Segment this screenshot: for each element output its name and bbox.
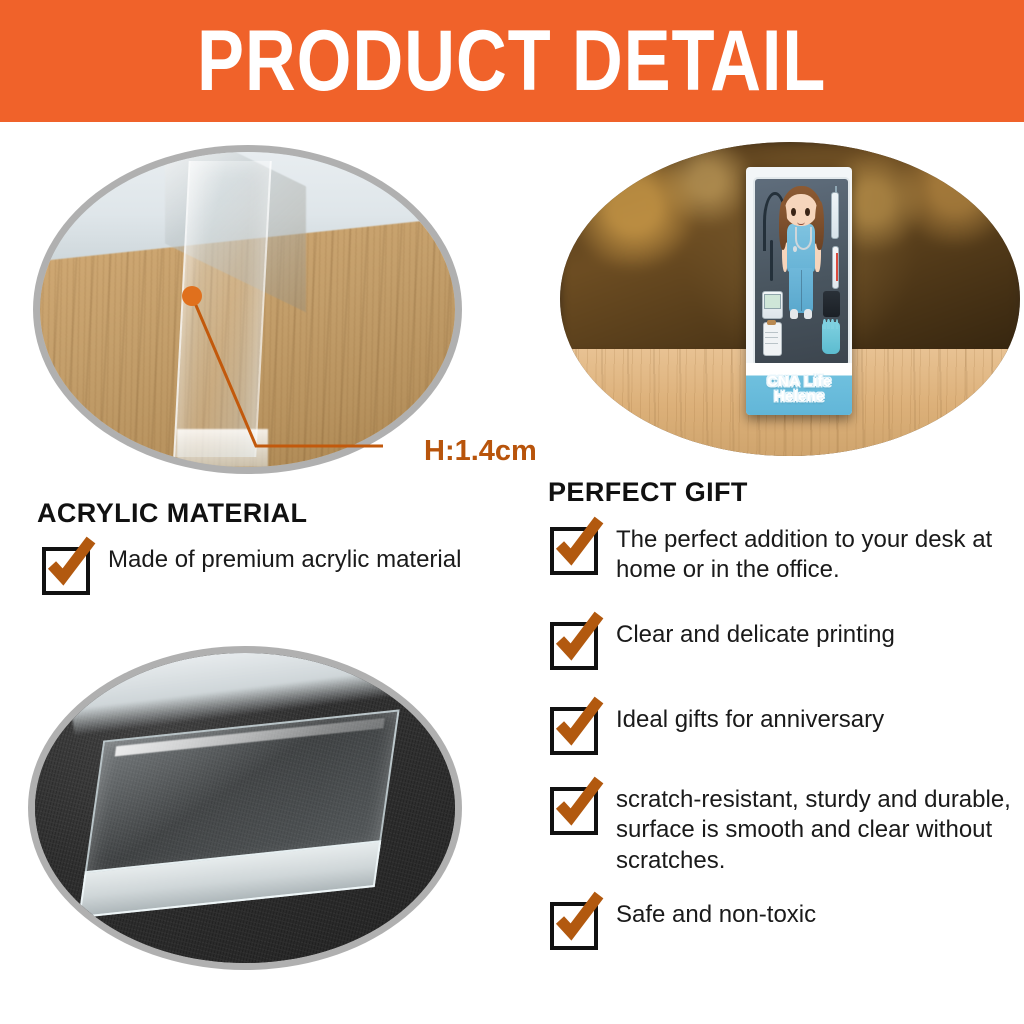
doll-leg-divider (801, 270, 802, 311)
checkbox-checked-icon[interactable] (550, 527, 598, 575)
feature-text: Clear and delicate printing (616, 620, 895, 650)
doll-shoe (804, 309, 812, 318)
glove-finger-icon (831, 319, 834, 328)
doll-hair-strand (779, 201, 787, 249)
doll-hair-strand (815, 201, 823, 249)
checkbox-checked-icon[interactable] (550, 622, 598, 670)
feature-text: Ideal gifts for anniversary (616, 705, 884, 735)
package-window (753, 177, 850, 367)
acrylic-base-highlight (177, 429, 268, 467)
thermometer-mercury-icon (836, 253, 837, 281)
glove-finger-icon (823, 319, 826, 328)
toy-package: CNA Life Helene (746, 167, 852, 415)
section-heading-acrylic-material: ACRYLIC MATERIAL (37, 498, 307, 529)
feature-item: Ideal gifts for anniversary (550, 705, 884, 755)
feature-text: The perfect addition to your desk at hom… (616, 525, 1020, 586)
doll-worn-stethoscope-icon (795, 227, 812, 249)
page-title: PRODUCT DETAIL (197, 18, 826, 104)
clipboard-clip-icon (767, 320, 776, 325)
acrylic-slab (78, 710, 395, 918)
check-mark-icon (551, 515, 607, 571)
section-heading-perfect-gift: PERFECT GIFT (548, 477, 748, 508)
checkbox-checked-icon[interactable] (550, 707, 598, 755)
height-callout-label: H:1.4cm (424, 435, 537, 468)
acrylic-edge-photo (40, 152, 455, 467)
check-mark-icon (551, 610, 607, 666)
checkbox-checked-icon[interactable] (550, 902, 598, 950)
package-label-line-2: Helene (774, 389, 824, 404)
header-banner: PRODUCT DETAIL (0, 0, 1024, 122)
product-detail-infographic: PRODUCT DETAIL H:1.4cm (0, 0, 1024, 1024)
clipboard-line-icon (765, 337, 778, 338)
glove-finger-icon (827, 319, 830, 328)
clipboard-line-icon (765, 332, 778, 333)
checkbox-checked-icon[interactable] (42, 547, 90, 595)
check-mark-icon (43, 535, 99, 591)
syringe-icon (831, 192, 840, 239)
feature-text: scratch-resistant, sturdy and durable, s… (616, 785, 1020, 876)
feature-item: scratch-resistant, sturdy and durable, s… (550, 785, 1020, 876)
feature-item: Clear and delicate printing (550, 620, 895, 670)
stethoscope-tube-icon (770, 240, 773, 281)
package-label: CNA Life Helene (746, 363, 852, 415)
feature-item: Safe and non-toxic (550, 900, 816, 950)
package-label-line-1: CNA Life (767, 374, 831, 389)
product-box-photo: CNA Life Helene (560, 142, 1020, 456)
acrylic-slab-photo (35, 653, 455, 963)
clipboard-line-icon (765, 343, 778, 344)
check-mark-icon (551, 695, 607, 751)
doll-shoe (790, 309, 798, 318)
check-mark-icon (551, 890, 607, 946)
feature-text: Safe and non-toxic (616, 900, 816, 930)
check-mark-icon (551, 775, 607, 831)
doll-smile (797, 218, 805, 225)
callout-dot-icon (182, 286, 202, 306)
checkbox-checked-icon[interactable] (550, 787, 598, 835)
monitor-screen-icon (764, 294, 781, 309)
clipboard-icon (763, 322, 782, 356)
feature-item: Made of premium acrylic material (42, 545, 461, 595)
feature-text: Made of premium acrylic material (108, 545, 461, 575)
feature-item: The perfect addition to your desk at hom… (550, 525, 1020, 586)
blood-pressure-cuff-icon (823, 291, 841, 317)
acrylic-block (173, 161, 271, 457)
